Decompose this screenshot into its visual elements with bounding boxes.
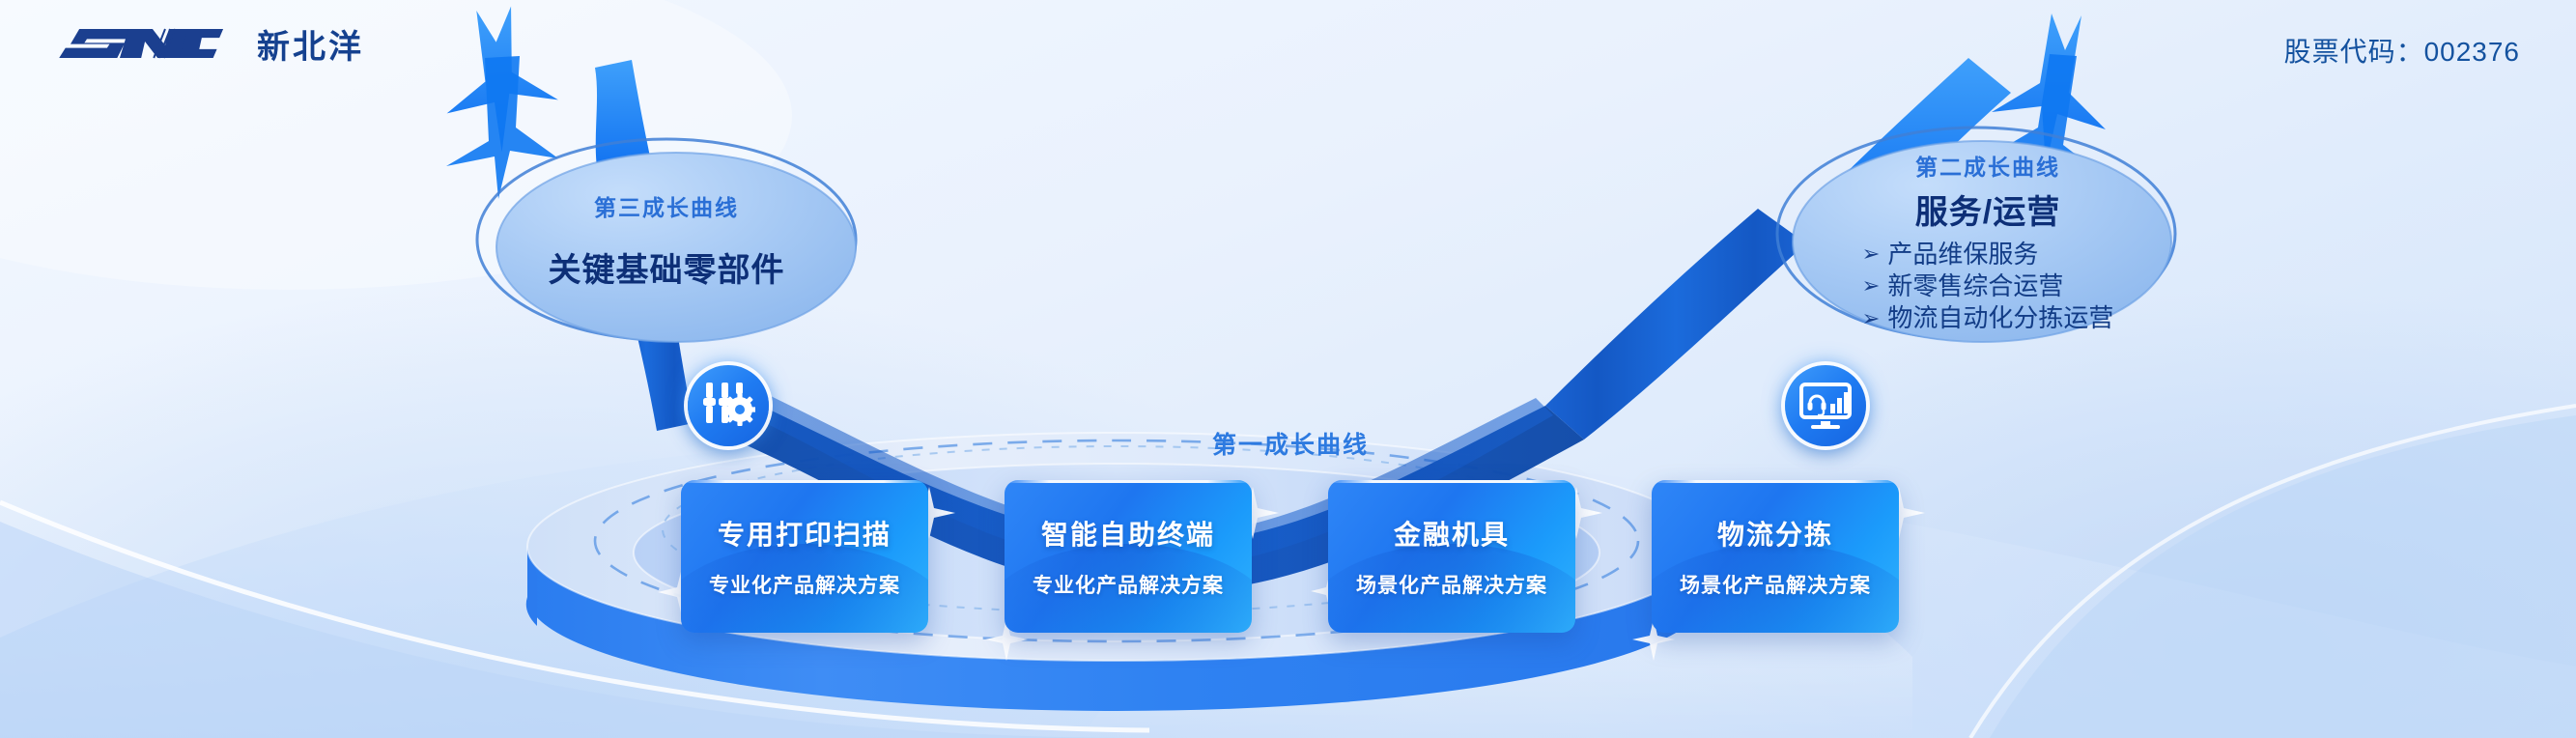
snbc-logo-icon: SNBC <box>54 21 243 66</box>
brand-logo: SNBC 新北洋 <box>54 21 364 66</box>
arrow-bullet-icon: ➢ <box>1862 308 1881 329</box>
arrow-bullet-icon: ➢ <box>1862 243 1881 265</box>
card-subtitle: 专业化产品解决方案 <box>709 570 900 599</box>
list-item: ➢ 新零售综合运营 <box>1862 270 2114 302</box>
list-item: ➢ 产品维保服务 <box>1862 239 2114 270</box>
card-title: 金融机具 <box>1394 514 1510 553</box>
third-curve-bubble[interactable]: 第三成长曲线 关键基础零部件 <box>483 151 850 328</box>
card-title: 专用打印扫描 <box>718 514 892 553</box>
card-title: 智能自助终端 <box>1041 514 1215 553</box>
card-subtitle: 场景化产品解决方案 <box>1680 570 1871 599</box>
stock-code-label: 股票代码：002376 <box>2284 31 2520 70</box>
card-title: 物流分拣 <box>1717 514 1833 553</box>
monitor-headset-chart-glyph <box>1799 383 1852 429</box>
card-subtitle: 专业化产品解决方案 <box>1033 570 1224 599</box>
list-item-label: 新零售综合运营 <box>1887 270 2063 302</box>
second-curve-bubble[interactable]: 第二成长曲线 服务/运营 ➢ 产品维保服务 ➢ 新零售综合运营 ➢ 物流自动化分… <box>1798 135 2177 348</box>
list-item-label: 物流自动化分拣运营 <box>1887 302 2113 334</box>
growth-curve-diagram <box>0 0 2576 738</box>
arrow-bullet-icon: ➢ <box>1862 275 1881 297</box>
card-subtitle: 场景化产品解决方案 <box>1356 570 1547 599</box>
list-item-label: 产品维保服务 <box>1887 239 2038 270</box>
third-curve-title: 关键基础零部件 <box>549 243 785 291</box>
product-card[interactable]: 专用打印扫描 专业化产品解决方案 <box>681 480 928 633</box>
sliders-gear-icon[interactable] <box>688 365 769 446</box>
list-item: ➢ 物流自动化分拣运营 <box>1862 302 2114 334</box>
monitor-headset-chart-icon[interactable] <box>1785 365 1866 446</box>
second-curve-kicker: 第二成长曲线 <box>1915 149 2060 182</box>
slide-canvas: SNBC 新北洋 股票代码：002376 第一成长曲线 第三成长曲线 关键基础零… <box>0 0 2576 738</box>
third-curve-kicker: 第三成长曲线 <box>594 189 739 222</box>
second-curve-list: ➢ 产品维保服务 ➢ 新零售综合运营 ➢ 物流自动化分拣运营 <box>1862 239 2114 335</box>
product-card[interactable]: 智能自助终端 专业化产品解决方案 <box>1005 480 1252 633</box>
product-card[interactable]: 金融机具 场景化产品解决方案 <box>1328 480 1575 633</box>
second-curve-title: 服务/运营 <box>1915 185 2060 233</box>
sliders-gear-glyph <box>701 381 755 431</box>
product-card[interactable]: 物流分拣 场景化产品解决方案 <box>1652 480 1899 633</box>
brand-name-cn: 新北洋 <box>257 31 364 66</box>
first-curve-label: 第一成长曲线 <box>1212 426 1369 461</box>
